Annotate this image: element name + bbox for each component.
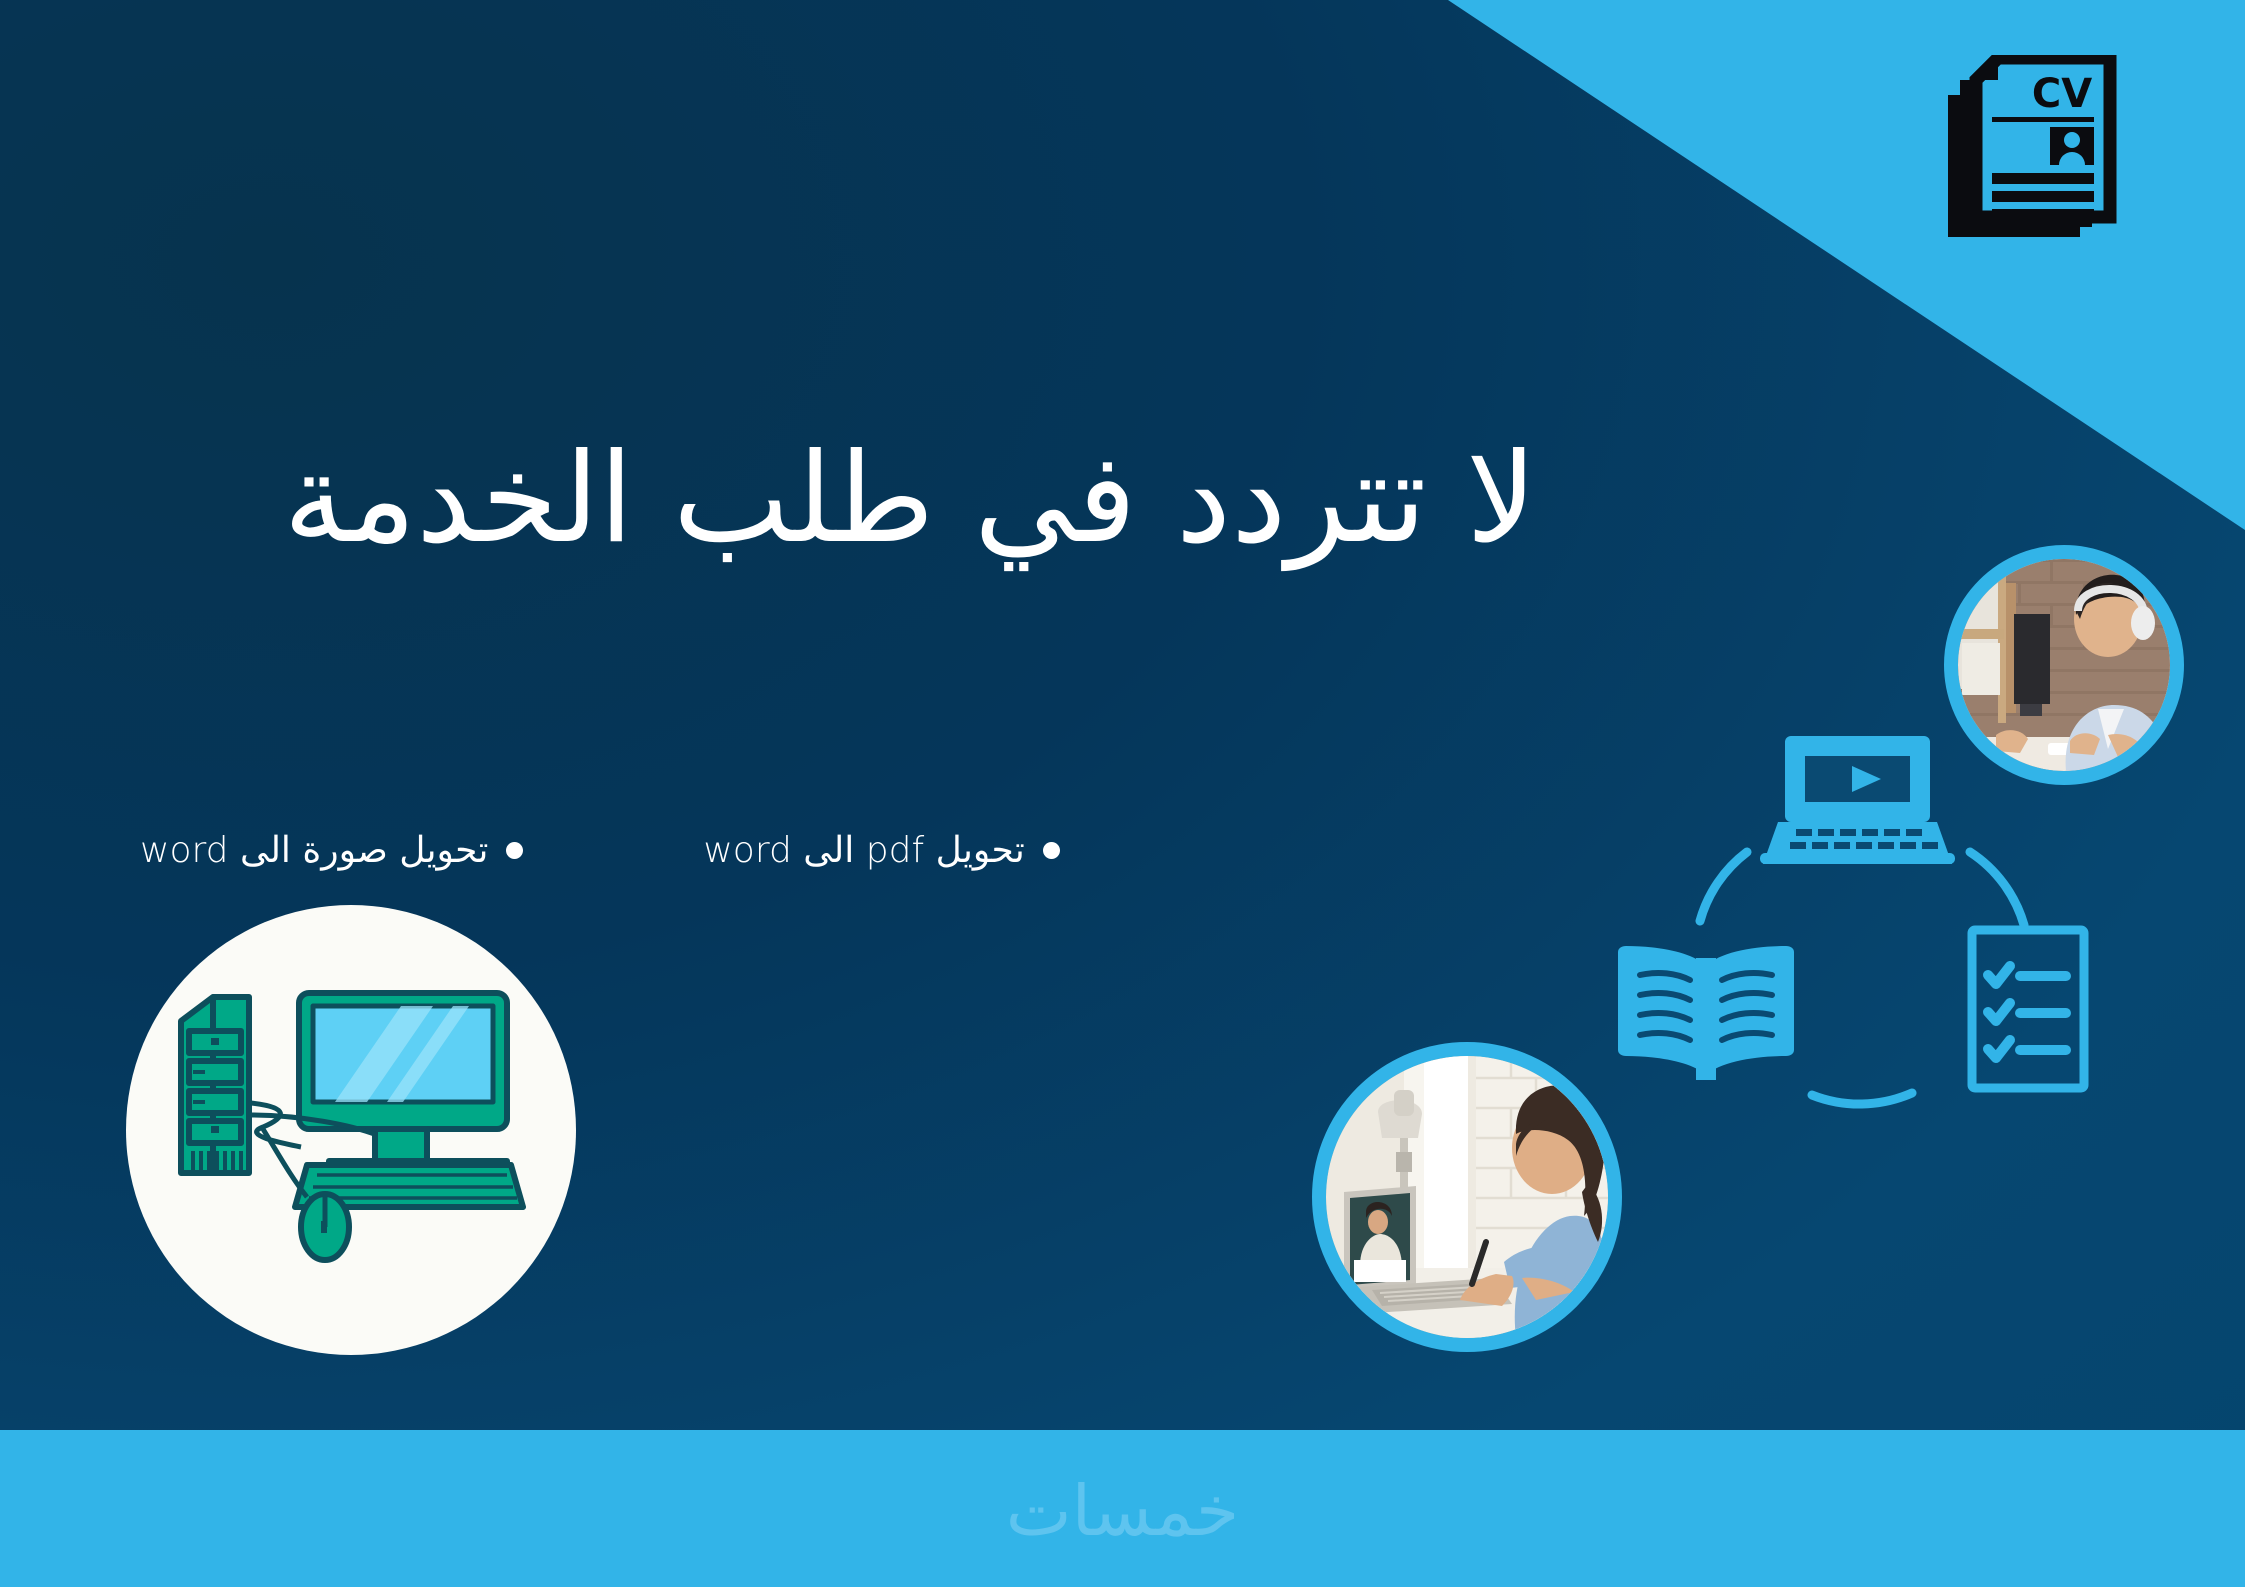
list-item: تحويل pdf الى word <box>703 830 1059 871</box>
desktop-computer-illustration <box>126 905 576 1355</box>
checklist-icon <box>1972 930 2084 1088</box>
arc-right <box>1970 852 2024 925</box>
slide-title: لا تتردد في طلب الخدمة <box>0 430 1820 569</box>
cv-label: CV <box>2032 71 2092 117</box>
desktop-computer-icon <box>171 975 531 1285</box>
arc-left <box>1700 852 1747 921</box>
feature-bullet-list: تحويل صورة الى word تحويل pdf الى word <box>140 830 1300 871</box>
arc-bottom <box>1812 1093 1912 1104</box>
photo-content <box>1326 1056 1608 1338</box>
laptop-video-icon <box>1760 736 1955 864</box>
bullet-label: تحويل pdf الى word <box>703 830 1024 871</box>
open-book-icon <box>1618 946 1794 1080</box>
list-item: تحويل صورة الى word <box>140 830 523 871</box>
bullet-dot-icon <box>506 842 523 859</box>
cv-document-icon: CV <box>1940 55 2120 244</box>
slide-canvas: CV لا تتردد في طلب الخدمة تحويل صورة الى… <box>0 0 2245 1587</box>
photo-content <box>1958 559 2170 771</box>
brand-watermark: خمسات <box>0 1470 2245 1552</box>
bullet-dot-icon <box>1043 842 1060 859</box>
bullet-label: تحويل صورة الى word <box>140 830 488 871</box>
man-with-headphones-photo <box>1944 545 2184 785</box>
woman-on-video-call-photo <box>1312 1042 1622 1352</box>
